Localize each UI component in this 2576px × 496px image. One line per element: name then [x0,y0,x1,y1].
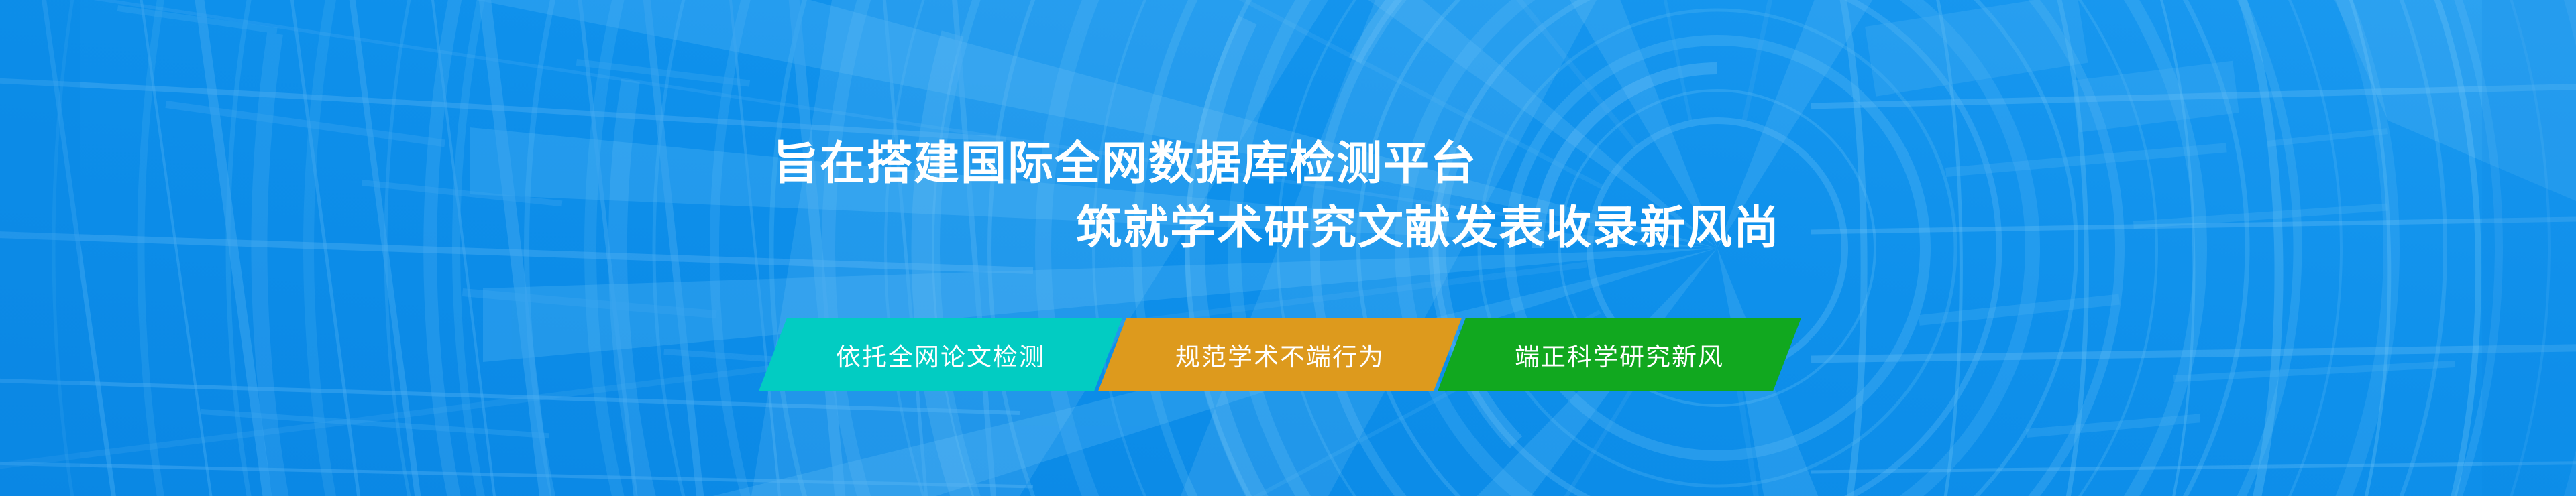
feature-tab-label: 依托全网论文检测 [836,336,1045,373]
headline-line-2: 筑就学术研究文献发表收录新风尚 [0,196,2576,260]
headline-line-1: 旨在搭建国际全网数据库检测平台 [0,131,2576,196]
feature-tab-research-integrity[interactable]: 端正科学研究新风 [1438,318,1801,391]
feature-tab-paper-detection[interactable]: 依托全网论文检测 [759,318,1122,391]
feature-tab-strip: 依托全网论文检测 规范学术不端行为 端正科学研究新风 [773,318,1787,391]
feature-tab-label: 端正科学研究新风 [1515,336,1724,373]
headline-block: 旨在搭建国际全网数据库检测平台 筑就学术研究文献发表收录新风尚 [0,131,2576,260]
feature-tab-label: 规范学术不端行为 [1175,336,1385,373]
promotional-banner: 旨在搭建国际全网数据库检测平台 筑就学术研究文献发表收录新风尚 依托全网论文检测… [0,0,2576,496]
feature-tab-misconduct-regulation[interactable]: 规范学术不端行为 [1098,318,1462,391]
